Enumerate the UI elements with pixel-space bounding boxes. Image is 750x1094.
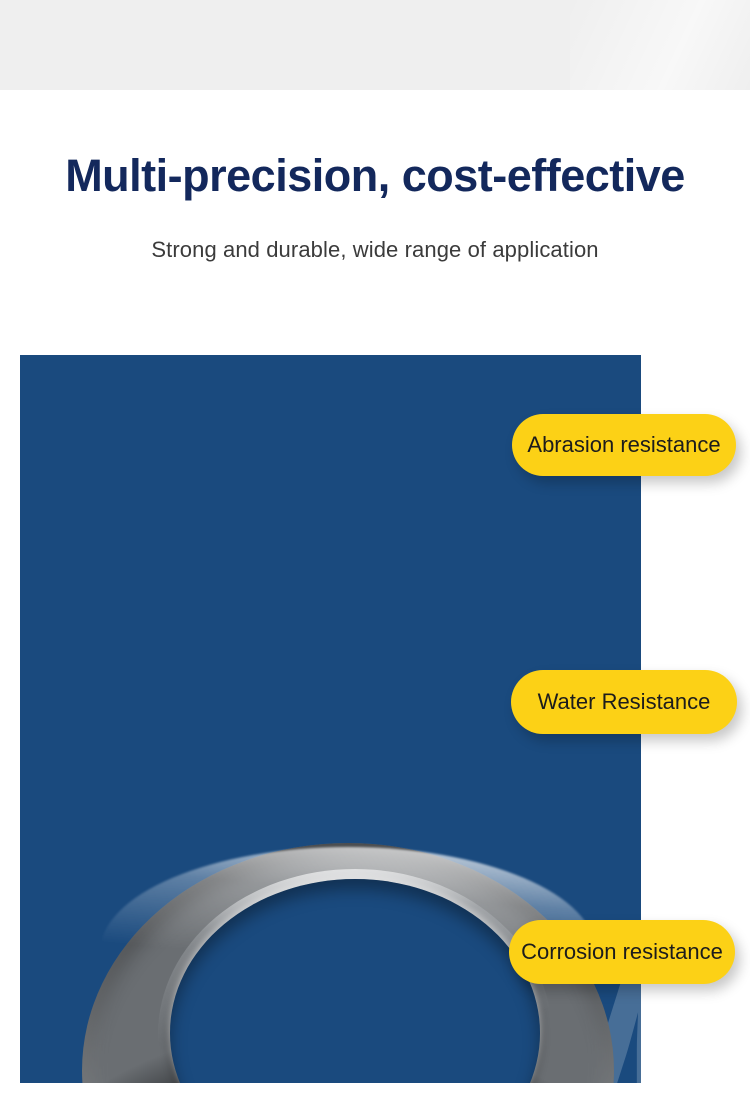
feature-badge-corrosion-resistance[interactable]: Corrosion resistance bbox=[509, 920, 735, 984]
feature-badge-abrasion-resistance[interactable]: Abrasion resistance bbox=[512, 414, 736, 476]
page-subtitle: Strong and durable, wide range of applic… bbox=[0, 234, 750, 266]
product-banner-page: Multi-precision, cost-effective Strong a… bbox=[0, 0, 750, 1094]
page-title: Multi-precision, cost-effective bbox=[0, 148, 750, 204]
feature-badge-water-resistance[interactable]: Water Resistance bbox=[511, 670, 737, 734]
top-grey-strip bbox=[0, 0, 750, 90]
